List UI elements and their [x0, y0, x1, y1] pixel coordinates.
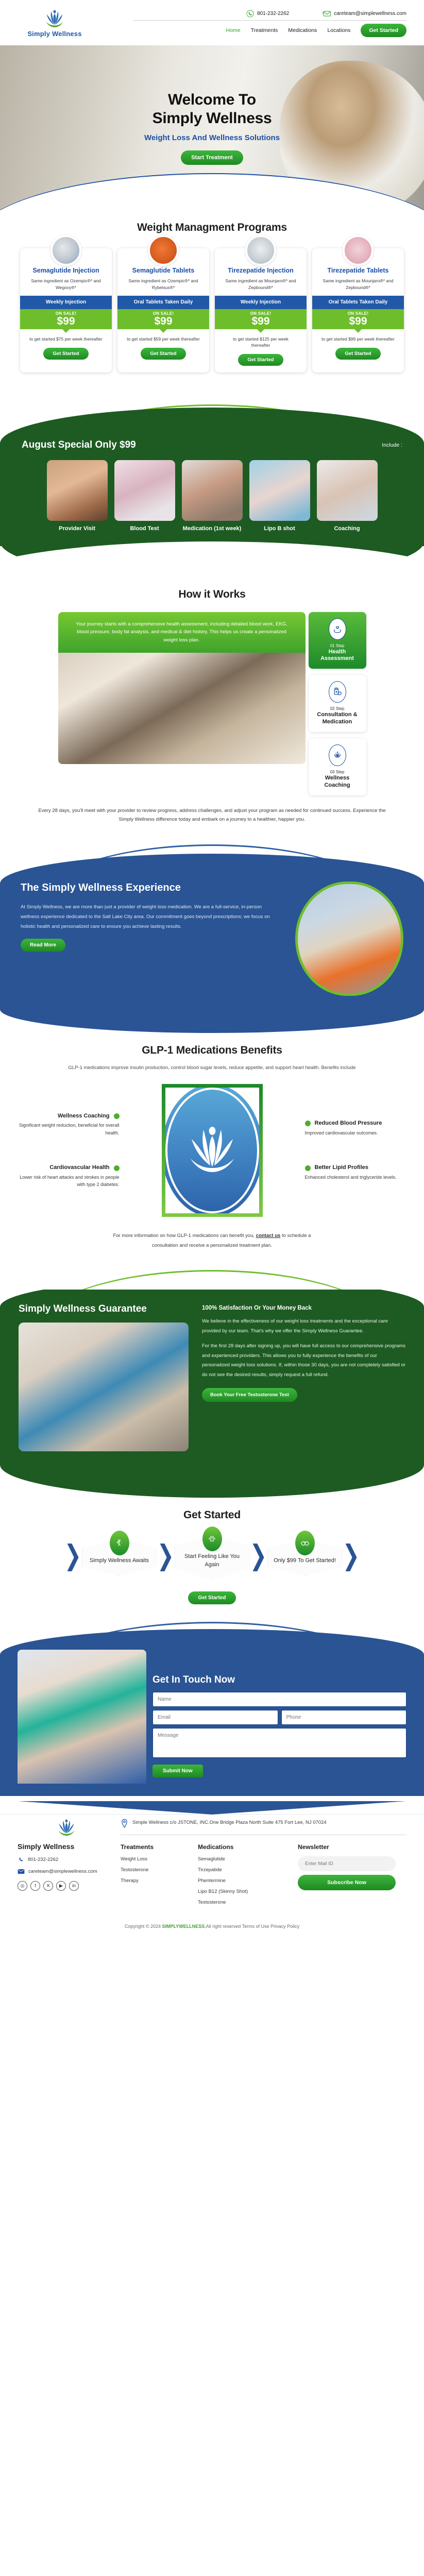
envelope-icon: [18, 1869, 25, 1874]
how-it-works-body: Your journey starts with a comprehensive…: [0, 612, 424, 795]
copyright-brand: SIMPLYWELLNESS: [162, 1924, 205, 1929]
footer-link[interactable]: Tirzepatide: [198, 1867, 286, 1873]
how-it-works-section: How it Works Your journey starts with a …: [0, 580, 424, 835]
special-item: Blood Test: [114, 460, 175, 532]
copyright-post: ,All right reserved Terms of Use Privacy…: [205, 1924, 299, 1929]
contact-form-column: Get In Touch Now Submit Now: [152, 1674, 406, 1784]
how-step-name: Wellness Coaching: [312, 775, 363, 789]
special-item: Provider Visit: [47, 460, 108, 532]
contact-form: Submit Now: [152, 1692, 406, 1777]
glp1-left-column: Wellness Coaching Significant weight red…: [16, 1113, 120, 1189]
program-card-note: to get started $125 per week thereafter: [215, 336, 307, 349]
glp1-footer-pre: For more information on how GLP-1 medica…: [113, 1233, 255, 1239]
tablets-image: [148, 235, 179, 266]
header-email[interactable]: careteam@simplewellness.com: [322, 10, 406, 17]
program-card-sale: ON SALE! $99: [312, 309, 404, 329]
nav-item-treatments[interactable]: Treatments: [251, 27, 278, 33]
nav-item-home[interactable]: Home: [226, 27, 241, 33]
experience-title: The Simply Wellness Experience: [21, 882, 281, 895]
glp1-benefits-section: GLP-1 Medications Benefits GLP-1 medicat…: [0, 1033, 424, 1255]
footer-phone-text: 801-232-2262: [28, 1857, 58, 1862]
nav-item-medications[interactable]: Medications: [288, 27, 317, 33]
program-get-started-button[interactable]: Get Started: [43, 348, 88, 360]
get-started-section: Get Started Simply Wellness Awaits: [0, 1498, 424, 1614]
glp1-title: GLP-1 Medications Benefits: [0, 1044, 424, 1057]
header-email-text: careteam@simplewellness.com: [334, 11, 406, 16]
footer-link[interactable]: Therapy: [121, 1878, 186, 1884]
linkedin-icon[interactable]: in: [69, 1881, 79, 1891]
footer-column-newsletter: Newsletter Subscribe Now: [298, 1843, 396, 1910]
celebrate-icon: [110, 1531, 129, 1555]
bullet-dot-icon: [114, 1113, 120, 1119]
book-testosterone-test-button[interactable]: Book Your Free Testosterone Test: [202, 1388, 297, 1402]
envelope-icon: [322, 10, 331, 17]
sale-price: $99: [20, 316, 112, 327]
glp1-benefit-heading: Better Lipid Profiles: [305, 1164, 408, 1172]
footer-link[interactable]: Testosterone: [121, 1867, 186, 1873]
glp1-benefit-title: Wellness Coaching: [58, 1113, 110, 1120]
message-textarea[interactable]: [152, 1728, 406, 1758]
glp1-benefit-title: Cardiovascular Health: [49, 1164, 109, 1172]
header-phone-text: 801-232-2262: [257, 11, 289, 16]
special-include-label: Include :: [382, 442, 402, 448]
footer-link[interactable]: Semaglutide: [198, 1856, 286, 1862]
how-step-1: 01 Step Health Assessment: [309, 612, 366, 669]
guarantee-bottom-curve: [0, 1465, 424, 1498]
program-get-started-button[interactable]: Get Started: [141, 348, 185, 360]
get-started-steps: Simply Wellness Awaits Start Feeling Lik…: [0, 1535, 424, 1580]
experience-text-column: The Simply Wellness Experience At Simply…: [21, 882, 281, 952]
footer-divider: [121, 1835, 406, 1835]
get-started-step: Simply Wellness Awaits: [82, 1539, 157, 1576]
guarantee-paragraph-2: For the first 28 days after signing up, …: [202, 1342, 405, 1380]
special-items: Provider Visit Blood Test Medication (1s…: [0, 460, 424, 532]
footer-link-columns: Treatments Weight Loss Testosterone Ther…: [121, 1843, 406, 1910]
program-card-title: Semaglutide Injection: [32, 267, 99, 275]
guarantee-paragraph-1: We believe in the effectiveness of our w…: [202, 1317, 405, 1336]
how-left-column: Your journey starts with a comprehensive…: [58, 612, 306, 764]
program-card-note: to get started $99 per week thereafter: [313, 336, 403, 343]
program-card-band: Oral Tablets Taken Daily: [312, 296, 404, 310]
contact-title: Get In Touch Now: [152, 1674, 406, 1686]
special-item-label: Provider Visit: [47, 525, 108, 532]
location-pin-icon: [121, 1819, 128, 1828]
glp1-right-column: Reduced Blood Pressure Improved cardiova…: [305, 1120, 408, 1181]
header-contact-row: 801-232-2262 careteam@simplewellness.com: [246, 9, 406, 20]
brand-name: Simply Wellness: [27, 30, 81, 38]
special-panel: August Special Only $99 Include : Provid…: [0, 408, 424, 546]
glp1-benefit-title: Better Lipid Profiles: [315, 1164, 369, 1172]
guarantee-title: Simply Wellness Guarantee: [19, 1303, 189, 1315]
program-card-title: Tirezepatide Injection: [228, 267, 294, 275]
pills-image: [343, 235, 374, 266]
glp1-benefit-desc: Improved cardiovascular outcomes.: [305, 1129, 408, 1137]
programs-card-list: Semaglutide Injection Same ingredient as…: [0, 248, 424, 372]
x-twitter-icon[interactable]: ✕: [43, 1881, 53, 1891]
sale-price: $99: [117, 316, 209, 327]
header-phone[interactable]: 801-232-2262: [246, 10, 289, 18]
guarantee-panel: Simply Wellness Guarantee 100% Satisfact…: [0, 1278, 424, 1465]
blood-test-image: [114, 460, 175, 521]
get-started-step: Only $99 To Get Started!: [267, 1539, 343, 1576]
get-started-step-label: Only $99 To Get Started!: [273, 1557, 337, 1565]
get-started-step-label: Simply Wellness Awaits: [88, 1557, 151, 1565]
program-card[interactable]: Tirezepatide Tablets Same ingredient as …: [312, 248, 404, 372]
program-card-sale: ON SALE! $99: [117, 309, 209, 329]
program-card-subtitle: Same ingredient as Ozempic®* and Rybelsu…: [117, 278, 209, 291]
get-started-step-label: Start Feeling Like You Again: [180, 1553, 244, 1569]
guarantee-top-arc: [0, 1261, 424, 1290]
email-input[interactable]: [152, 1710, 278, 1725]
glp1-subtitle: GLP-1 medications improve insulin produc…: [68, 1063, 357, 1073]
special-item: Lipo B shot: [249, 460, 310, 532]
special-item-label: Medication (1st week): [182, 525, 243, 532]
get-started-cta-button[interactable]: Get Started: [188, 1591, 236, 1604]
glp1-benefit-desc: Lower risk of heart attacks and strokes …: [16, 1174, 120, 1189]
primary-nav: Home Treatments Medications Locations Ge…: [226, 22, 406, 37]
handshake-icon: [295, 1531, 315, 1555]
special-offer-section: August Special Only $99 Include : Provid…: [0, 397, 424, 580]
lotus-logo-icon: [181, 1117, 243, 1184]
footer-address-text: Simple Wellness c/o JSTONE, INC.One Brid…: [132, 1819, 327, 1826]
experience-bottom-curve: [0, 1009, 424, 1033]
header-get-started-button[interactable]: Get Started: [361, 24, 406, 37]
lipo-b-shot-image: [249, 460, 310, 521]
experience-section: The Simply Wellness Experience At Simply…: [0, 834, 424, 1033]
lotus-icon: [329, 744, 346, 766]
how-step-2: 02 Step Consultation & Medication: [309, 675, 366, 732]
lotus-logo-icon: [43, 8, 66, 29]
special-item-label: Blood Test: [114, 525, 175, 532]
program-card-subtitle: Same ingredient as Ozempic®* and Wegovy®…: [20, 278, 112, 291]
kitchen-woman-image: [58, 653, 306, 764]
hero-title-line2: Simply Wellness: [144, 109, 280, 127]
how-step-name: Health Assessment: [312, 649, 363, 663]
how-it-works-title: How it Works: [0, 588, 424, 601]
program-get-started-button[interactable]: Get Started: [238, 354, 283, 366]
guarantee-section: Simply Wellness Guarantee 100% Satisfact…: [0, 1261, 424, 1498]
chevron-right-decor: [346, 1544, 357, 1571]
how-step-name: Consultation & Medication: [312, 711, 363, 725]
program-get-started-button[interactable]: Get Started: [335, 348, 380, 360]
program-card[interactable]: Semaglutide Injection Same ingredient as…: [20, 248, 112, 372]
glp1-benefit-title: Reduced Blood Pressure: [315, 1120, 382, 1127]
glp1-benefit-item: Reduced Blood Pressure Improved cardiova…: [305, 1120, 408, 1137]
guarantee-heading: 100% Satisfaction Or Your Money Back: [202, 1305, 405, 1311]
glp1-benefit-desc: Significant weight reduction, beneficial…: [16, 1122, 120, 1137]
happy-woman-image: [18, 1650, 146, 1784]
how-step-3: 03 Step Wellness Coaching: [309, 738, 366, 795]
footer-link[interactable]: Lipo B12 (Skinny Shot): [198, 1889, 286, 1894]
footer-column-title: Treatments: [121, 1843, 186, 1851]
special-item: Medication (1st week): [182, 460, 243, 532]
experience-read-more-button[interactable]: Read More: [21, 939, 65, 952]
special-item: Coaching: [317, 460, 378, 532]
glp1-benefit-desc: Enhanced cholesterol and triglyceride le…: [305, 1174, 408, 1181]
program-card-subtitle: Same ingredient as Mounjaro®* and Zepbou…: [215, 278, 307, 291]
submit-now-button[interactable]: Submit Now: [152, 1765, 203, 1777]
header-right: 801-232-2262 careteam@simplewellness.com…: [96, 9, 411, 37]
chevron-left-decor: [67, 1544, 79, 1571]
experience-body: At Simply Wellness, we are more than jus…: [21, 902, 281, 931]
program-card-band: Weekly Injection: [215, 296, 307, 310]
footer-link[interactable]: Weight Loss: [121, 1856, 186, 1862]
copyright-pre: Copyright © 2024: [125, 1924, 162, 1929]
body-slim-icon: [202, 1527, 222, 1551]
program-card-sale: ON SALE! $99: [215, 309, 307, 329]
how-steps-list: 01 Step Health Assessment 02 Step: [309, 612, 366, 795]
special-title: August Special Only $99: [22, 439, 136, 451]
glp1-benefit-item: Better Lipid Profiles Enhanced cholester…: [305, 1164, 408, 1181]
footer-phone[interactable]: 801-232-2262: [18, 1856, 115, 1863]
footer-column-title: Medications: [198, 1843, 286, 1851]
nav-item-locations[interactable]: Locations: [327, 27, 350, 33]
program-card-note: to get started $59 per week thereafter: [118, 336, 208, 343]
glp1-benefit-item: Cardiovascular Health Lower risk of hear…: [16, 1164, 120, 1189]
program-card-band: Weekly Injection: [20, 296, 112, 310]
injection-image: [245, 235, 276, 266]
glp1-benefit-item: Wellness Coaching Significant weight red…: [16, 1113, 120, 1137]
program-card-note: to get started $75 per week thereafter: [21, 336, 111, 343]
lotus-logo-icon: [56, 1818, 77, 1837]
hero-content: Welcome To Simply Wellness Weight Loss A…: [144, 91, 280, 165]
contact-form-row: [152, 1710, 406, 1728]
newsletter-email-input[interactable]: [298, 1856, 396, 1871]
glp1-center-logo: [162, 1084, 263, 1217]
header-divider: [133, 20, 406, 21]
hands-heart-icon: [329, 618, 346, 640]
guarantee-left-column: Simply Wellness Guarantee: [19, 1303, 189, 1451]
how-it-works-footer-text: Every 28 days, you'll meet with your pro…: [35, 807, 390, 824]
hero-title-line1: Welcome To: [144, 91, 280, 109]
footer-address: Simple Wellness c/o JSTONE, INC.One Brid…: [121, 1818, 406, 1828]
how-step-number: 01 Step: [312, 643, 363, 648]
program-card-subtitle: Same ingredient as Mounjaro®* and Zepbou…: [312, 278, 404, 291]
subscribe-now-button[interactable]: Subscribe Now: [298, 1875, 396, 1890]
program-card-title: Tirezepatide Tablets: [327, 267, 388, 275]
landing-page: Simply Wellness 801-232-2262: [0, 0, 424, 1936]
footer-column-treatments: Treatments Weight Loss Testosterone Ther…: [121, 1843, 186, 1910]
special-item-label: Lipo B shot: [249, 525, 310, 532]
special-item-label: Coaching: [317, 525, 378, 532]
get-started-title: Get Started: [0, 1509, 424, 1521]
contact-panel: Get In Touch Now Submit Now: [0, 1629, 424, 1796]
bullet-dot-icon: [305, 1121, 311, 1126]
glp1-footer-text: For more information on how GLP-1 medica…: [101, 1231, 323, 1250]
facebook-icon[interactable]: f: [30, 1881, 40, 1891]
glp1-benefit-heading: Cardiovascular Health: [16, 1164, 120, 1172]
footer-column-title: Newsletter: [298, 1843, 396, 1851]
how-step-number: 02 Step: [312, 706, 363, 711]
contact-section: Get In Touch Now Submit Now: [0, 1614, 424, 1796]
site-footer: Simply Wellness 801-232-2262 careteam@si…: [0, 1796, 424, 1936]
provider-visit-image: [47, 460, 108, 521]
glp1-benefit-heading: Wellness Coaching: [16, 1113, 120, 1120]
programs-section: Weight Managment Programs Semaglutide In…: [0, 210, 424, 384]
hero-bottom-curve: [0, 173, 424, 210]
program-card[interactable]: Tirezepatide Injection Same ingredient a…: [215, 248, 307, 372]
program-card[interactable]: Semaglutide Tablets Same ingredient as O…: [117, 248, 209, 372]
medicine-bottle-icon: [329, 681, 346, 703]
youtube-icon[interactable]: ▶: [56, 1881, 66, 1891]
measuring-woman-image: [19, 1323, 189, 1451]
programs-title: Weight Managment Programs: [0, 222, 424, 234]
bullet-dot-icon: [305, 1165, 311, 1171]
footer-column-medications: Medications Semaglutide Tirzepatide Phen…: [198, 1843, 286, 1910]
chevron-right-decor: [160, 1544, 172, 1571]
program-card-title: Semaglutide Tablets: [132, 267, 195, 275]
footer-notch-decor: [0, 1801, 424, 1815]
footer-email[interactable]: careteam@simplewellness.com: [18, 1869, 115, 1874]
phone-icon: [18, 1856, 24, 1863]
phone-input[interactable]: [281, 1710, 407, 1725]
footer-social-links: ◎ f ✕ ▶ in: [18, 1881, 115, 1891]
hero-start-treatment-button[interactable]: Start Treatment: [181, 150, 243, 165]
instagram-icon[interactable]: ◎: [18, 1881, 27, 1891]
site-header: Simply Wellness 801-232-2262: [0, 0, 424, 45]
sale-price: $99: [215, 316, 307, 327]
how-banner-text: Your journey starts with a comprehensive…: [58, 612, 306, 653]
footer-link[interactable]: Testosterone: [198, 1900, 286, 1905]
chevron-right-decor: [253, 1544, 264, 1571]
program-card-band: Oral Tablets Taken Daily: [117, 296, 209, 310]
special-bottom-curve: [0, 541, 424, 580]
medication-image: [182, 460, 243, 521]
syringe-image: [50, 235, 81, 266]
hero-section: Welcome To Simply Wellness Weight Loss A…: [0, 45, 424, 210]
experience-panel: The Simply Wellness Experience At Simply…: [0, 854, 424, 1009]
hero-subtitle: Weight Loss And Wellness Solutions: [144, 133, 280, 142]
bullet-dot-icon: [114, 1165, 120, 1171]
phone-icon: [246, 10, 254, 18]
special-header: August Special Only $99 Include :: [0, 418, 424, 451]
footer-link[interactable]: Phentermine: [198, 1878, 286, 1884]
footer-right-column: Simple Wellness c/o JSTONE, INC.One Brid…: [121, 1818, 406, 1910]
copyright-bar: Copyright © 2024 SIMPLYWELLNESS,All righ…: [0, 1910, 424, 1936]
footer-brand-column: Simply Wellness 801-232-2262 careteam@si…: [18, 1818, 115, 1910]
hiker-woman-image: [295, 882, 403, 996]
guarantee-right-column: 100% Satisfaction Or Your Money Back We …: [202, 1303, 405, 1402]
get-started-step: Start Feeling Like You Again: [175, 1535, 250, 1580]
program-card-sale: ON SALE! $99: [20, 309, 112, 329]
how-step-number: 03 Step: [312, 770, 363, 774]
glp1-benefit-heading: Reduced Blood Pressure: [305, 1120, 408, 1127]
brand-logo[interactable]: Simply Wellness: [13, 8, 96, 38]
footer-brand-name: Simply Wellness: [18, 1842, 115, 1851]
glp1-diagram: Wellness Coaching Significant weight red…: [16, 1084, 408, 1217]
footer-content: Simply Wellness 801-232-2262 careteam@si…: [0, 1815, 424, 1910]
coaching-image: [317, 460, 378, 521]
contact-us-link[interactable]: contact us: [256, 1233, 281, 1239]
sale-price: $99: [312, 316, 404, 327]
footer-email-text: careteam@simplewellness.com: [28, 1869, 97, 1874]
name-input[interactable]: [152, 1692, 406, 1707]
